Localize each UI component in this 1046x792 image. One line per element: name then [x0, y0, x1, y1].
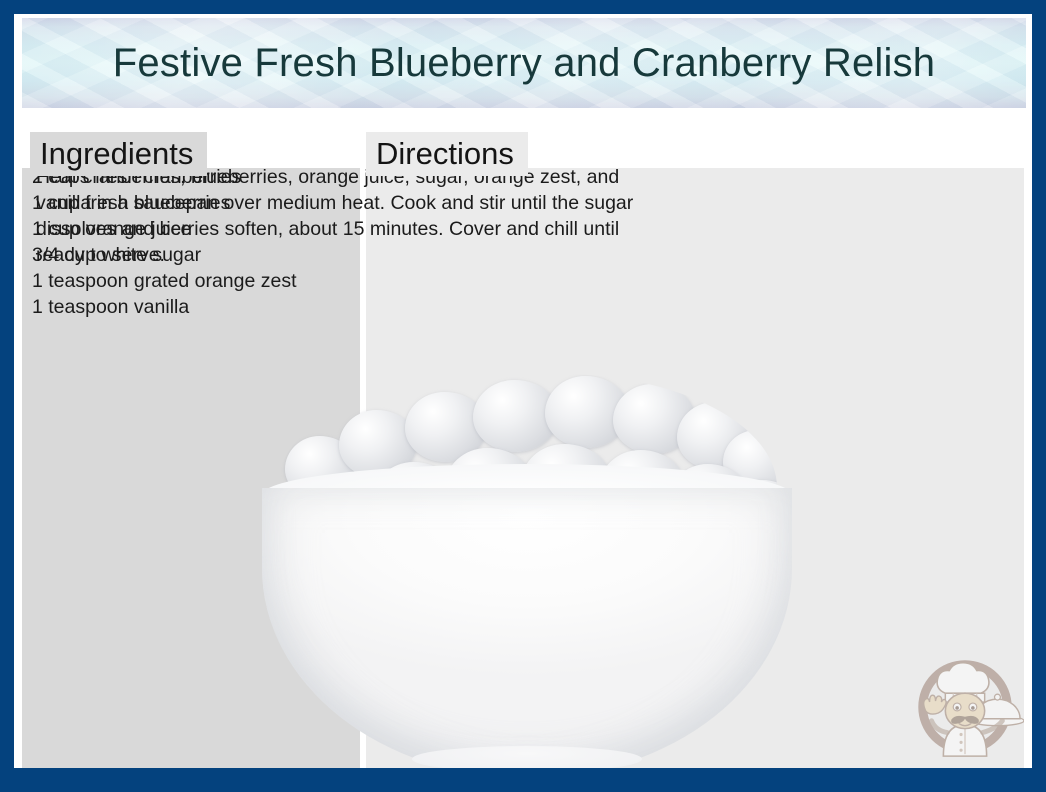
list-item: 1 teaspoon grated orange zest	[32, 268, 350, 294]
recipe-content: Ingredients Directions 2 cups fresh cran…	[22, 122, 1024, 768]
title-banner: Festive Fresh Blueberry and Cranberry Re…	[22, 18, 1026, 108]
recipe-card: Festive Fresh Blueberry and Cranberry Re…	[0, 0, 1046, 792]
list-item: 1 teaspoon vanilla	[32, 294, 350, 320]
page-title: Festive Fresh Blueberry and Cranberry Re…	[22, 18, 1026, 108]
card-inner-frame: Festive Fresh Blueberry and Cranberry Re…	[14, 14, 1032, 768]
ingredients-header: Ingredients	[30, 132, 207, 176]
directions-text: Heat cranberries, blueberries, orange ju…	[36, 164, 658, 268]
directions-header: Directions	[366, 132, 528, 176]
chef-logo-icon	[906, 646, 1024, 764]
